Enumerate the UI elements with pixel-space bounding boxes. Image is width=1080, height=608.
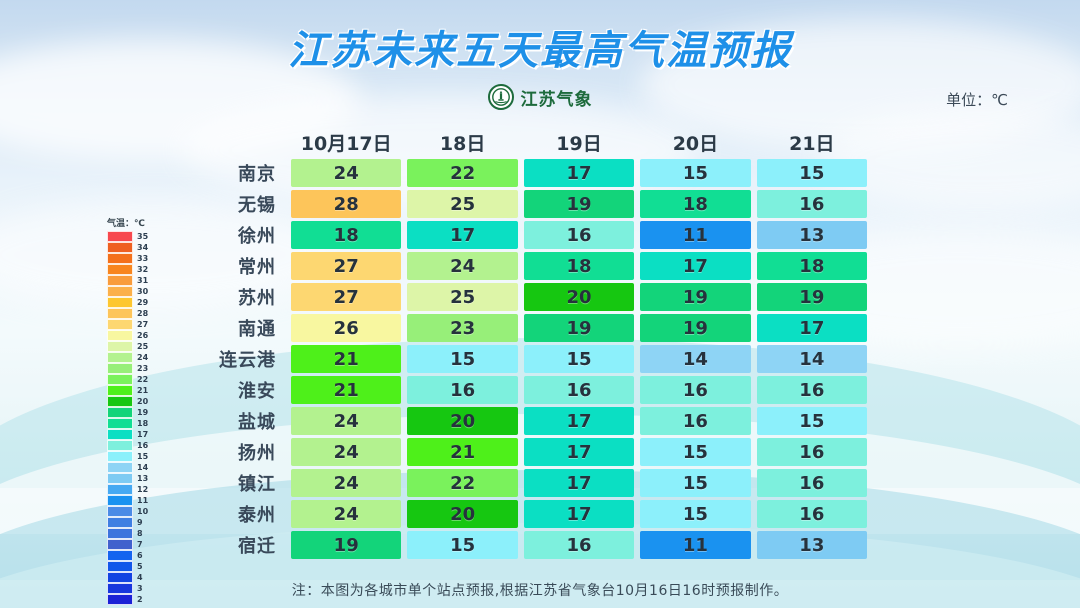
legend-swatch [107, 308, 133, 319]
temperature-cell: 17 [524, 500, 634, 528]
temperature-cell: 24 [291, 469, 401, 497]
legend-stop: 11 [107, 495, 159, 506]
temperature-cell: 26 [291, 314, 401, 342]
temperature-cell: 15 [757, 407, 867, 435]
temperature-cell: 16 [757, 190, 867, 218]
temperature-cell: 17 [640, 252, 750, 280]
temperature-cell: 16 [524, 376, 634, 404]
legend-stop: 29 [107, 297, 159, 308]
temperature-cell: 16 [757, 500, 867, 528]
temperature-cell: 17 [757, 314, 867, 342]
temperature-cell: 20 [524, 283, 634, 311]
legend-value: 25 [137, 341, 148, 352]
footer-note: 注：本图为各城市单个站点预报,根据江苏省气象台10月16日16时预报制作。 [0, 580, 1080, 600]
legend-swatch [107, 550, 133, 561]
temperature-cell: 15 [640, 469, 750, 497]
legend-stop: 10 [107, 506, 159, 517]
legend-value: 34 [137, 242, 148, 253]
temperature-cell: 22 [407, 159, 517, 187]
legend-value: 23 [137, 363, 148, 374]
legend-stop: 25 [107, 341, 159, 352]
legend-value: 7 [137, 539, 143, 550]
legend-stop: 24 [107, 352, 159, 363]
legend-swatch [107, 264, 133, 275]
city-label: 无锡 [190, 191, 288, 217]
table-row: 连云港2115151414 [190, 345, 870, 373]
legend-value: 27 [137, 319, 148, 330]
legend-swatch [107, 253, 133, 264]
temperature-cell: 15 [524, 345, 634, 373]
temperature-cell: 19 [640, 314, 750, 342]
temperature-cell: 24 [291, 407, 401, 435]
temperature-cell: 23 [407, 314, 517, 342]
temperature-cell: 16 [757, 438, 867, 466]
legend-value: 28 [137, 308, 148, 319]
temperature-cell: 19 [291, 531, 401, 559]
temperature-cell: 19 [524, 190, 634, 218]
temperature-cell: 20 [407, 500, 517, 528]
temperature-cell: 16 [640, 407, 750, 435]
temperature-cell: 16 [524, 531, 634, 559]
temperature-cell: 21 [291, 345, 401, 373]
legend-value: 19 [137, 407, 148, 418]
table-row: 盐城2420171615 [190, 407, 870, 435]
legend-swatch [107, 451, 133, 462]
temperature-cell: 11 [640, 221, 750, 249]
legend-stop: 12 [107, 484, 159, 495]
temperature-cell: 16 [407, 376, 517, 404]
legend-swatch [107, 275, 133, 286]
legend-swatch [107, 352, 133, 363]
temperature-cell: 14 [640, 345, 750, 373]
legend-stop: 35 [107, 231, 159, 242]
legend-value: 30 [137, 286, 148, 297]
city-label: 泰州 [190, 501, 288, 527]
city-label: 常州 [190, 253, 288, 279]
legend-value: 32 [137, 264, 148, 275]
legend-stop: 17 [107, 429, 159, 440]
temperature-cell: 11 [640, 531, 750, 559]
temperature-cell: 16 [640, 376, 750, 404]
city-label: 扬州 [190, 439, 288, 465]
legend-value: 8 [137, 528, 143, 539]
table-row: 泰州2420171516 [190, 500, 870, 528]
legend-swatch [107, 341, 133, 352]
temperature-cell: 21 [291, 376, 401, 404]
legend-swatch [107, 462, 133, 473]
legend-swatch [107, 297, 133, 308]
city-label: 宿迁 [190, 532, 288, 558]
legend-value: 15 [137, 451, 148, 462]
legend-stop: 30 [107, 286, 159, 297]
legend-stop: 33 [107, 253, 159, 264]
legend-swatch [107, 495, 133, 506]
legend-value: 13 [137, 473, 148, 484]
temperature-cell: 13 [757, 221, 867, 249]
temperature-cell: 16 [757, 376, 867, 404]
temperature-cell: 14 [757, 345, 867, 373]
column-header-day: 10月17日 [291, 129, 401, 156]
table-row: 徐州1817161113 [190, 221, 870, 249]
temperature-cell: 15 [757, 159, 867, 187]
legend-value: 14 [137, 462, 148, 473]
temperature-cell: 15 [640, 500, 750, 528]
temperature-cell: 25 [407, 190, 517, 218]
legend-stop: 21 [107, 385, 159, 396]
temperature-cell: 17 [524, 407, 634, 435]
temperature-cell: 15 [407, 531, 517, 559]
temperature-cell: 18 [524, 252, 634, 280]
legend-swatch [107, 539, 133, 550]
legend-swatch [107, 528, 133, 539]
legend-stop: 7 [107, 539, 159, 550]
legend-stop: 16 [107, 440, 159, 451]
temperature-cell: 17 [524, 159, 634, 187]
city-label: 连云港 [190, 346, 288, 372]
table-header-row: 10月17日 18日 19日 20日 21日 [190, 126, 870, 156]
temperature-cell: 24 [407, 252, 517, 280]
temperature-cell: 17 [524, 469, 634, 497]
legend-value: 24 [137, 352, 148, 363]
legend-value: 5 [137, 561, 143, 572]
temperature-cell: 27 [291, 283, 401, 311]
temperature-cell: 20 [407, 407, 517, 435]
legend-swatch [107, 506, 133, 517]
legend-stop: 20 [107, 396, 159, 407]
legend-value: 10 [137, 506, 148, 517]
unit-label: 单位：℃ [946, 89, 1008, 110]
legend-swatch [107, 407, 133, 418]
legend-value: 9 [137, 517, 143, 528]
legend-stop: 15 [107, 451, 159, 462]
legend-value: 18 [137, 418, 148, 429]
temperature-cell: 24 [291, 159, 401, 187]
legend-swatch [107, 242, 133, 253]
legend-swatch [107, 418, 133, 429]
column-header-day: 21日 [757, 129, 867, 156]
table-row: 苏州2725201919 [190, 283, 870, 311]
legend-swatch [107, 561, 133, 572]
legend-stop: 5 [107, 561, 159, 572]
table-row: 南通2623191917 [190, 314, 870, 342]
legend-stop: 27 [107, 319, 159, 330]
legend-swatch [107, 231, 133, 242]
table-row: 常州2724181718 [190, 252, 870, 280]
temperature-cell: 19 [524, 314, 634, 342]
table-row: 宿迁1915161113 [190, 531, 870, 559]
legend-stop: 9 [107, 517, 159, 528]
city-label: 淮安 [190, 377, 288, 403]
legend-swatch [107, 374, 133, 385]
legend-scale: 3534333231302928272625242322212019181716… [107, 231, 159, 605]
temperature-cell: 27 [291, 252, 401, 280]
temperature-cell: 15 [640, 438, 750, 466]
legend-stop: 28 [107, 308, 159, 319]
temperature-cell: 16 [757, 469, 867, 497]
legend-value: 17 [137, 429, 148, 440]
legend-swatch [107, 385, 133, 396]
temperature-cell: 21 [407, 438, 517, 466]
legend-value: 16 [137, 440, 148, 451]
table-row: 淮安2116161616 [190, 376, 870, 404]
temperature-cell: 19 [757, 283, 867, 311]
column-header-day: 20日 [640, 129, 750, 156]
city-label: 镇江 [190, 470, 288, 496]
table-row: 无锡2825191816 [190, 190, 870, 218]
temperature-cell: 13 [757, 531, 867, 559]
temperature-cell: 18 [640, 190, 750, 218]
legend-swatch [107, 517, 133, 528]
city-label: 盐城 [190, 408, 288, 434]
legend-stop: 18 [107, 418, 159, 429]
legend-stop: 31 [107, 275, 159, 286]
table-row: 镇江2422171516 [190, 469, 870, 497]
legend-value: 20 [137, 396, 148, 407]
legend-value: 21 [137, 385, 148, 396]
legend-swatch [107, 363, 133, 374]
column-header-day: 19日 [524, 129, 634, 156]
temperature-cell: 24 [291, 438, 401, 466]
legend-value: 35 [137, 231, 148, 242]
legend-swatch [107, 429, 133, 440]
temperature-cell: 24 [291, 500, 401, 528]
legend-swatch [107, 440, 133, 451]
brand-logo-label: 江苏气象 [521, 85, 593, 110]
temperature-cell: 18 [291, 221, 401, 249]
table-body: 南京2422171515无锡2825191816徐州1817161113常州27… [190, 159, 870, 559]
legend-stop: 26 [107, 330, 159, 341]
temperature-cell: 17 [524, 438, 634, 466]
legend-value: 31 [137, 275, 148, 286]
legend-value: 11 [137, 495, 148, 506]
legend-value: 6 [137, 550, 143, 561]
legend-stop: 32 [107, 264, 159, 275]
legend-stop: 23 [107, 363, 159, 374]
legend-swatch [107, 286, 133, 297]
temperature-cell: 17 [407, 221, 517, 249]
temperature-cell: 18 [757, 252, 867, 280]
temperature-cell: 16 [524, 221, 634, 249]
legend-stop: 19 [107, 407, 159, 418]
temperature-cell: 22 [407, 469, 517, 497]
legend-stop: 34 [107, 242, 159, 253]
legend-swatch [107, 473, 133, 484]
temperature-cell: 28 [291, 190, 401, 218]
legend-stop: 13 [107, 473, 159, 484]
temperature-cell: 15 [407, 345, 517, 373]
legend-stop: 6 [107, 550, 159, 561]
legend-value: 12 [137, 484, 148, 495]
legend-value: 33 [137, 253, 148, 264]
column-header-day: 18日 [407, 129, 517, 156]
jiangsu-meteorology-emblem-icon [488, 84, 514, 110]
legend-swatch [107, 484, 133, 495]
legend-swatch [107, 330, 133, 341]
legend-stop: 8 [107, 528, 159, 539]
page-title: 江苏未来五天最高气温预报 [0, 18, 1080, 76]
temperature-legend: 气温：℃ 35343332313029282726252423222120191… [107, 216, 159, 605]
temperature-cell: 15 [640, 159, 750, 187]
forecast-table: 10月17日 18日 19日 20日 21日 南京2422171515无锡282… [190, 126, 870, 562]
table-row: 扬州2421171516 [190, 438, 870, 466]
city-label: 南京 [190, 160, 288, 186]
city-label: 南通 [190, 315, 288, 341]
legend-value: 29 [137, 297, 148, 308]
legend-swatch [107, 319, 133, 330]
legend-stop: 14 [107, 462, 159, 473]
city-label: 苏州 [190, 284, 288, 310]
temperature-cell: 19 [640, 283, 750, 311]
legend-value: 22 [137, 374, 148, 385]
legend-title: 气温：℃ [107, 216, 159, 229]
city-label: 徐州 [190, 222, 288, 248]
brand-logo: 江苏气象 [0, 84, 1080, 110]
table-row: 南京2422171515 [190, 159, 870, 187]
legend-value: 26 [137, 330, 148, 341]
temperature-cell: 25 [407, 283, 517, 311]
legend-stop: 22 [107, 374, 159, 385]
legend-swatch [107, 396, 133, 407]
